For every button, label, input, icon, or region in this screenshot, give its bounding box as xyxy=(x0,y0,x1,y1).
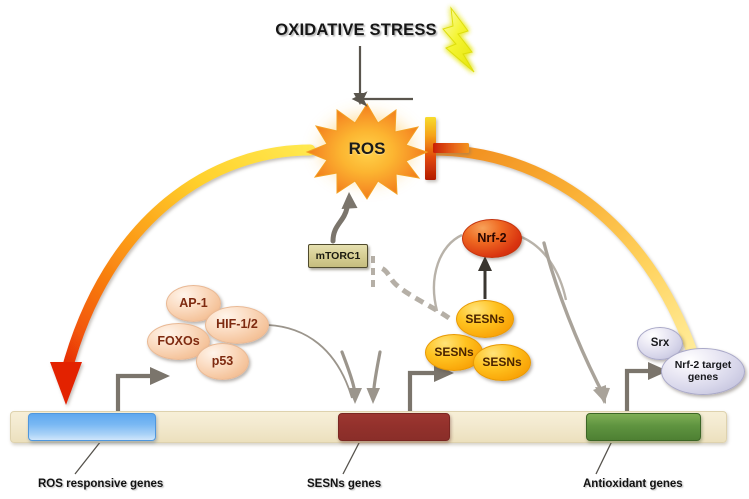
lightning-bolt-icon xyxy=(443,8,474,72)
node-nrf2[interactable]: Nrf-2 xyxy=(462,219,522,258)
node-p53[interactable]: p53 xyxy=(196,343,249,380)
arc-ros-to-ros-responsive-genes xyxy=(50,150,310,405)
caption-ros-responsive-genes: ROS responsive genes xyxy=(38,478,163,490)
arrow-sesns-to-nrf2 xyxy=(478,256,492,299)
curve-tfs-to-sesns-genes xyxy=(268,325,352,398)
node-hif-1-2[interactable]: HIF-1/2 xyxy=(205,306,269,344)
diagram-canvas: OXIDATIVE STRESS ROS AP-1 HIF-1/2 FOXOs … xyxy=(0,0,749,499)
node-nrf2-target-genes[interactable]: Nrf-2 target genes xyxy=(661,348,745,395)
transcription-arrow-ros-genes xyxy=(118,367,170,412)
caption-leader-lines xyxy=(75,441,612,474)
arrows-into-sesns-genes xyxy=(342,352,380,404)
gene-box-sesns[interactable] xyxy=(338,413,450,441)
node-sesns-1[interactable]: SESNs xyxy=(456,300,514,338)
ros-burst-icon xyxy=(307,104,427,199)
oxidative-stress-title: OXIDATIVE STRESS xyxy=(272,17,440,43)
node-sesns-3[interactable]: SESNs xyxy=(473,344,531,381)
gene-box-ros-responsive[interactable] xyxy=(28,413,156,441)
caption-antioxidant-genes: Antioxidant genes xyxy=(583,478,683,490)
transcription-arrow-sesns-genes xyxy=(410,364,454,412)
inhibition-bar-icon xyxy=(425,117,469,180)
arrow-stress-to-ros xyxy=(354,46,414,105)
arrow-mtorc1-to-ros xyxy=(333,192,358,241)
node-mtorc1[interactable]: mTORC1 xyxy=(308,244,368,268)
gene-box-antioxidant[interactable] xyxy=(586,413,701,441)
caption-sesns-genes: SESNs genes xyxy=(307,478,381,490)
